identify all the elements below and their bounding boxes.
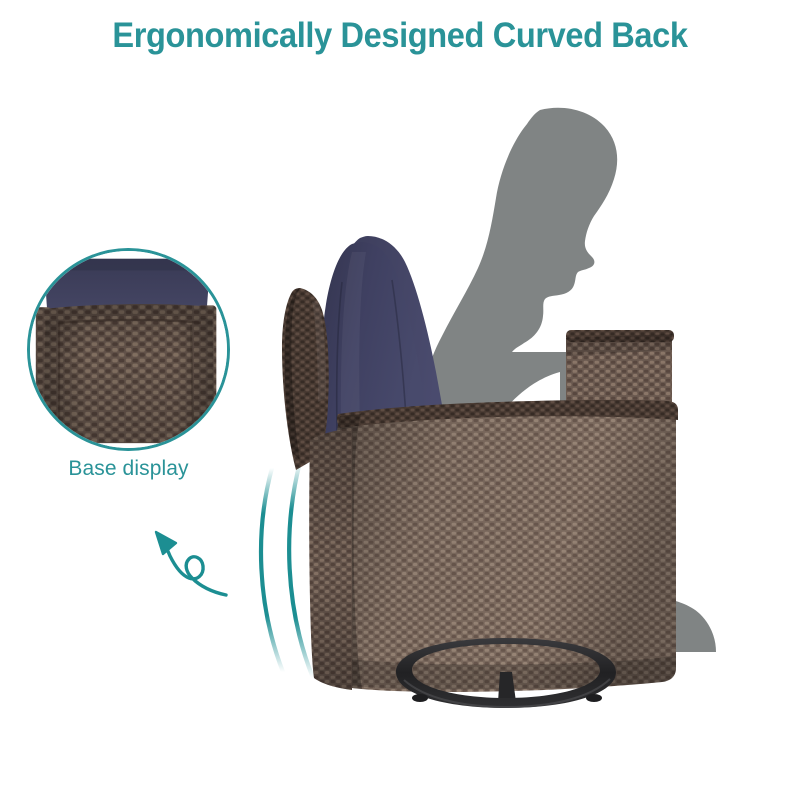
base-detail-callout: Base display <box>27 248 230 451</box>
curly-swivel-arrow <box>156 532 226 595</box>
callout-circle <box>27 248 230 451</box>
callout-detail-svg <box>30 251 227 448</box>
product-feature-graphic: Ergonomically Designed Curved Back <box>0 0 800 800</box>
callout-label: Base display <box>17 456 240 482</box>
chair-seat-block <box>309 428 352 690</box>
chair-right-arm-far <box>566 330 674 412</box>
chair-back-shell <box>334 400 678 692</box>
